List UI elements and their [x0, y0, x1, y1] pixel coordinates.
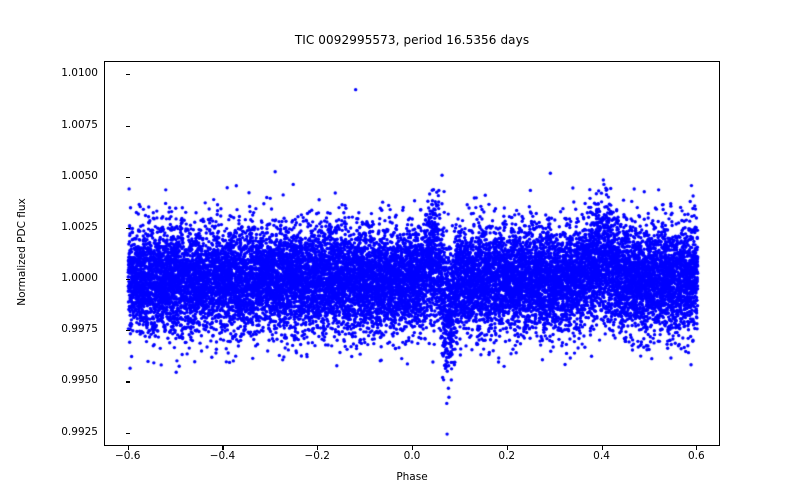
x-tick-mark — [222, 446, 223, 450]
x-tick-label: 0.0 — [404, 450, 421, 462]
x-tick-mark — [507, 446, 508, 450]
y-axis-label: Normalized PDC flux — [16, 152, 28, 352]
x-tick-label: 0.4 — [593, 450, 610, 462]
x-tick-label: 0.6 — [688, 450, 705, 462]
x-tick-mark — [602, 446, 603, 450]
x-tick-mark — [696, 446, 697, 450]
figure-canvas: TIC 0092995573, period 16.5356 days 1.01… — [0, 0, 800, 500]
x-tick-label: −0.4 — [210, 450, 236, 462]
x-tick-label: 0.2 — [498, 450, 515, 462]
x-axis-tick-labels: −0.6−0.4−0.20.00.20.40.6 — [0, 0, 800, 500]
x-tick-label: −0.2 — [304, 450, 330, 462]
x-tick-mark — [317, 446, 318, 450]
x-tick-label: −0.6 — [115, 450, 141, 462]
x-tick-mark — [412, 446, 413, 450]
x-tick-mark — [128, 446, 129, 450]
x-axis-label: Phase — [104, 471, 720, 483]
